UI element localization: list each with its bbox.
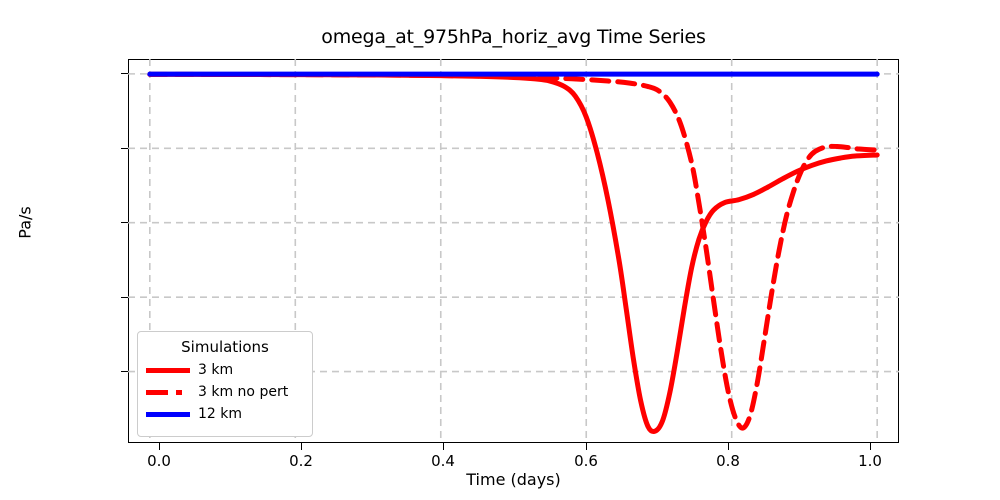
x-tick-label: 1.0 [830, 452, 910, 470]
legend-swatch-12km [146, 407, 190, 421]
x-tick-label: 0.0 [119, 452, 199, 470]
x-tick-mark [728, 443, 729, 450]
x-tick-mark [159, 443, 160, 450]
x-tick-label: 0.4 [403, 452, 483, 470]
legend-swatch-3km-no-pert [146, 385, 190, 399]
x-tick-mark [586, 443, 587, 450]
legend-item-3km[interactable]: 3 km [146, 359, 304, 381]
y-tick-mark [121, 73, 128, 74]
x-tick-mark [870, 443, 871, 450]
legend-label-3km-no-pert: 3 km no pert [198, 384, 288, 400]
legend-item-12km[interactable]: 12 km [146, 403, 304, 425]
legend-swatch-3km [146, 363, 190, 377]
chart-figure: omega_at_975hPa_horiz_avg Time Series Pa… [0, 0, 1000, 500]
x-tick-label: 0.6 [546, 452, 626, 470]
x-tick-mark [443, 443, 444, 450]
y-tick-mark [121, 148, 128, 149]
chart-title: omega_at_975hPa_horiz_avg Time Series [128, 26, 899, 48]
y-tick-mark [121, 222, 128, 223]
y-axis-label: Pa/s [16, 103, 35, 343]
x-tick-mark [301, 443, 302, 450]
x-tick-label: 0.2 [261, 452, 341, 470]
legend: Simulations 3 km 3 km no pert 12 km [137, 331, 313, 437]
y-tick-mark [121, 297, 128, 298]
legend-label-12km: 12 km [198, 406, 242, 422]
y-tick-mark [121, 371, 128, 372]
legend-label-3km: 3 km [198, 362, 233, 378]
x-tick-label: 0.8 [688, 452, 768, 470]
legend-title: Simulations [146, 338, 304, 356]
legend-item-3km-no-pert[interactable]: 3 km no pert [146, 381, 304, 403]
x-axis-label: Time (days) [128, 470, 899, 489]
